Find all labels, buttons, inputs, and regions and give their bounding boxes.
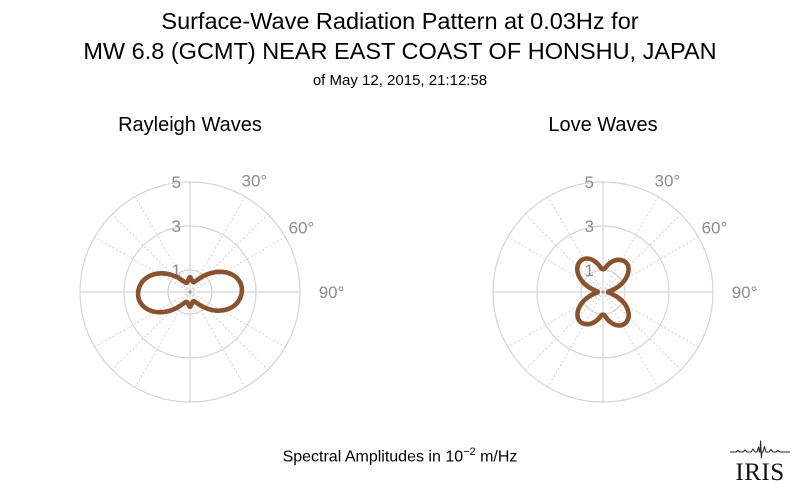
rayleigh-panel-title: Rayleigh Waves <box>10 112 370 138</box>
polar-spoke-dotted <box>603 214 681 292</box>
angular-tick-label: 30° <box>654 172 680 191</box>
caption-prefix: Spectral Amplitudes in 10 <box>283 448 464 465</box>
rayleigh-panel: Rayleigh Waves 13530°60°90° <box>10 112 370 432</box>
angular-tick-label: 90° <box>732 283 758 302</box>
radial-tick-label: 5 <box>172 173 181 192</box>
radial-tick-labels: 135 <box>172 173 181 280</box>
polar-spoke-dotted <box>603 292 658 387</box>
figure-title-block: Surface-Wave Radiation Pattern at 0.03Hz… <box>0 6 800 93</box>
angular-tick-labels: 30°60°90° <box>241 172 344 302</box>
polar-spoke-dotted <box>525 292 603 370</box>
iris-wordmark: IRIS <box>728 460 792 486</box>
polar-spoke-dotted <box>508 292 603 347</box>
iris-logo: IRIS <box>728 440 792 486</box>
polar-center-dot <box>601 290 604 293</box>
polar-spoke-dotted <box>548 292 603 387</box>
love-polar-plot: 13530°60°90° <box>423 140 783 430</box>
polar-center-dot <box>188 290 191 293</box>
polar-spoke-dotted <box>190 237 285 292</box>
radial-tick-labels: 135 <box>585 173 594 280</box>
polar-grid <box>80 182 300 402</box>
polar-spoke-dotted <box>603 292 698 347</box>
caption-exponent: −2 <box>463 446 476 458</box>
polar-spoke-dotted <box>603 197 658 292</box>
angular-tick-label: 90° <box>319 283 345 302</box>
angular-tick-labels: 30°60°90° <box>654 172 757 302</box>
polar-spoke-dotted <box>603 237 698 292</box>
polar-spoke-dotted <box>95 292 190 347</box>
caption-suffix: m/Hz <box>476 448 518 465</box>
radiation-pattern-figure: { "figure": { "title_line_1": "Surface-W… <box>0 0 800 492</box>
polar-spoke-dotted <box>112 292 190 370</box>
polar-spoke-dotted <box>603 292 681 370</box>
radial-tick-label: 3 <box>585 217 594 236</box>
angular-tick-label: 60° <box>702 219 728 238</box>
polar-spoke-dotted <box>548 197 603 292</box>
spectral-amplitude-caption: Spectral Amplitudes in 10−2 m/Hz <box>0 446 800 466</box>
angular-tick-label: 30° <box>241 172 267 191</box>
rayleigh-polar-plot: 13530°60°90° <box>10 140 370 430</box>
polar-spoke-dotted <box>190 214 268 292</box>
radial-tick-label: 3 <box>172 217 181 236</box>
figure-title-line-2: MW 6.8 (GCMT) NEAR EAST COAST OF HONSHU,… <box>0 36 800 66</box>
love-panel-title: Love Waves <box>423 112 783 138</box>
polar-grid <box>493 182 713 402</box>
figure-subtitle: of May 12, 2015, 21:12:58 <box>0 69 800 93</box>
figure-title-line-1: Surface-Wave Radiation Pattern at 0.03Hz… <box>0 6 800 36</box>
rayleigh-polar-svg: 13530°60°90° <box>10 140 370 430</box>
love-panel: Love Waves 13530°60°90° <box>423 112 783 432</box>
radial-tick-label: 5 <box>585 173 594 192</box>
radial-tick-label: 1 <box>585 261 594 280</box>
love-polar-svg: 13530°60°90° <box>423 140 783 430</box>
seismogram-trace-icon <box>728 440 792 460</box>
angular-tick-label: 60° <box>289 219 315 238</box>
